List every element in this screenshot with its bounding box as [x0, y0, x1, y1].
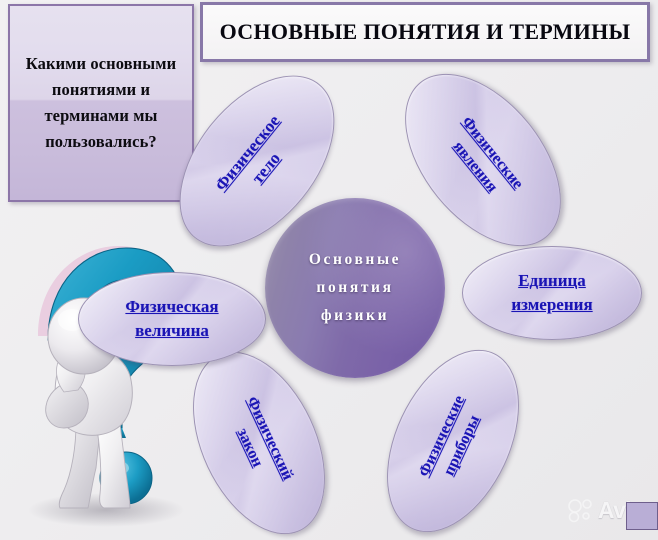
- petal-label: Единица измерения: [511, 269, 592, 317]
- question-text: Какими основными понятиями и терминами м…: [10, 51, 192, 155]
- petal-edinica-izmereniya[interactable]: Единица измерения: [462, 246, 642, 340]
- page-title: ОСНОВНЫЕ ПОНЯТИЯ И ТЕРМИНЫ: [210, 19, 641, 46]
- center-label: Основные понятия физики: [309, 246, 401, 331]
- petal-label: Физическая величина: [125, 295, 218, 343]
- corner-color-swatch: [626, 502, 658, 530]
- slide-canvas: Какими основными понятиями и терминами м…: [0, 0, 658, 540]
- petal-label: Физическое тело: [210, 110, 305, 211]
- petal-label: Физические приборы: [414, 392, 492, 490]
- petal-label: Физические явления: [438, 112, 528, 208]
- petal-label: Физический закон: [220, 393, 298, 493]
- question-box: Какими основными понятиями и терминами м…: [8, 4, 194, 202]
- title-box: ОСНОВНЫЕ ПОНЯТИЯ И ТЕРМИНЫ: [200, 2, 650, 62]
- center-circle: Основные понятия физики: [265, 198, 445, 378]
- avito-logo-icon: [568, 499, 594, 523]
- petal-fizicheskaya-velichina[interactable]: Физическая величина: [78, 272, 266, 366]
